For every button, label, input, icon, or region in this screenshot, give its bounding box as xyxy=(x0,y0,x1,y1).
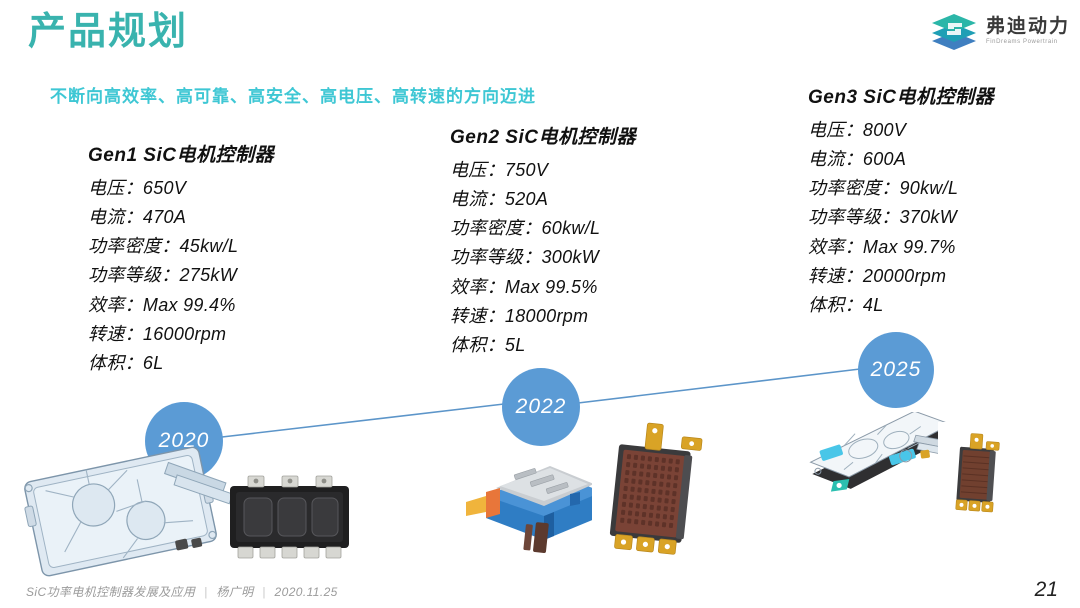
brand-text: 弗迪动力 FinDreams Powertrain xyxy=(986,17,1070,45)
timeline-year-2025[interactable]: 2025 xyxy=(858,332,934,408)
gen1-power-module xyxy=(222,468,357,573)
spec-line-power-density: 功率密度：60kw/L xyxy=(450,214,636,243)
spec-line-volume: 体积：6L xyxy=(88,349,274,378)
footer-separator-1: | xyxy=(204,585,208,599)
footer-author: 杨广明 xyxy=(216,585,253,599)
footer-doc-title: SiC功率电机控制器发展及应用 xyxy=(26,585,195,599)
spec-heading-gen3: Gen3 SiC电机控制器 xyxy=(808,82,994,109)
spec-line-current: 电流：600A xyxy=(808,145,994,174)
spec-line-voltage: 电压：750V xyxy=(450,156,636,185)
timeline-year-2022[interactable]: 2022 xyxy=(502,368,580,446)
spec-line-efficiency: 效率：Max 99.7% xyxy=(808,233,994,262)
spec-line-speed: 转速：20000rpm xyxy=(808,262,994,291)
page-subtitle: 不断向高效率、高可靠、高安全、高电压、高转速的方向迈进 xyxy=(50,82,536,107)
footer-separator-2: | xyxy=(262,585,266,599)
spec-line-power-density: 功率密度：90kw/L xyxy=(808,174,994,203)
spec-line-power-density: 功率密度：45kw/L xyxy=(88,232,274,261)
brand-name-en: FinDreams Powertrain xyxy=(986,39,1070,45)
page-title: 产品规划 xyxy=(28,12,188,54)
slide-root: 产品规划 不断向高效率、高可靠、高安全、高电压、高转速的方向迈进 弗迪动力 Fi… xyxy=(0,0,1080,608)
spec-line-volume: 体积：5L xyxy=(450,331,636,360)
spec-line-power-rating: 功率等级：370kW xyxy=(808,203,994,232)
gen2-pinfin-module xyxy=(592,418,717,573)
spec-line-voltage: 电压：800V xyxy=(808,116,994,145)
spec-line-volume: 体积：4L xyxy=(808,291,994,320)
brand-logo: 弗迪动力 FinDreams Powertrain xyxy=(930,10,1070,52)
stacked-layers-icon xyxy=(930,10,978,52)
spec-line-voltage: 电压：650V xyxy=(88,174,274,203)
footer-date: 2020.11.25 xyxy=(275,585,338,599)
gen1-controller-housing xyxy=(18,438,243,588)
spec-line-speed: 转速：16000rpm xyxy=(88,320,274,349)
spec-block-gen1: Gen1 SiC电机控制器 电压：650V 电流：470A 功率密度：45kw/… xyxy=(88,140,274,378)
brand-name-cn: 弗迪动力 xyxy=(986,17,1070,36)
spec-line-power-rating: 功率等级：300kW xyxy=(450,243,636,272)
gen3-power-module xyxy=(938,422,1018,532)
spec-line-current: 电流：520A xyxy=(450,185,636,214)
footer-meta: SiC功率电机控制器发展及应用 | 杨广明 | 2020.11.25 xyxy=(26,583,338,600)
spec-line-efficiency: 效率：Max 99.4% xyxy=(88,291,274,320)
spec-heading-gen1: Gen1 SiC电机控制器 xyxy=(88,140,274,167)
page-number: 21 xyxy=(1035,578,1058,602)
spec-line-efficiency: 效率：Max 99.5% xyxy=(450,273,636,302)
spec-block-gen2: Gen2 SiC电机控制器 电压：750V 电流：520A 功率密度：60kw/… xyxy=(450,122,636,360)
spec-line-speed: 转速：18000rpm xyxy=(450,302,636,331)
spec-line-power-rating: 功率等级：275kW xyxy=(88,261,274,290)
spec-line-current: 电流：470A xyxy=(88,203,274,232)
spec-block-gen3: Gen3 SiC电机控制器 电压：800V 电流：600A 功率密度：90kw/… xyxy=(808,82,994,320)
spec-heading-gen2: Gen2 SiC电机控制器 xyxy=(450,122,636,149)
